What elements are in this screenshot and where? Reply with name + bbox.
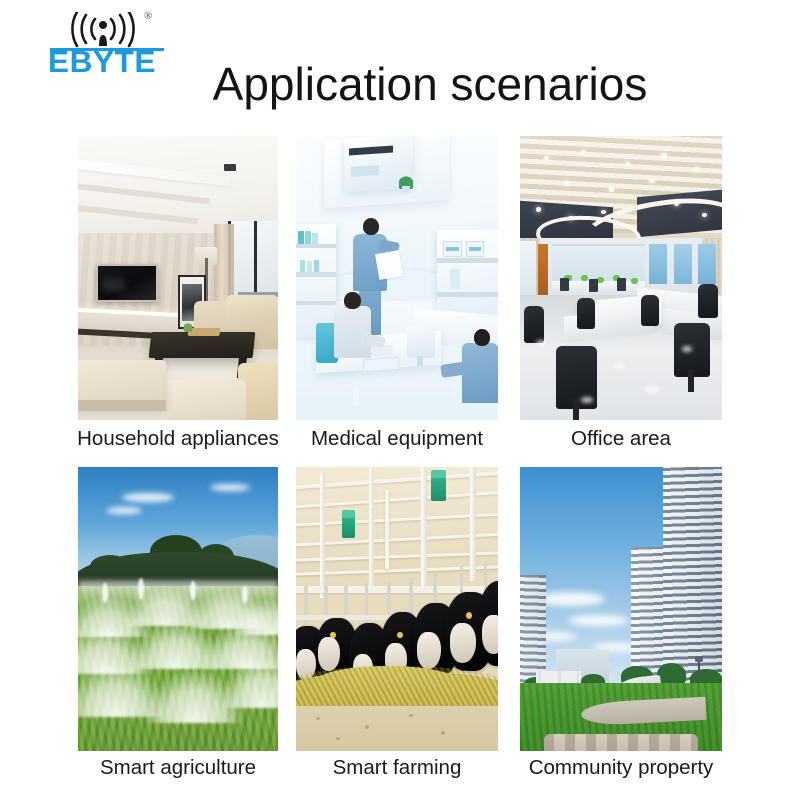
scenario-caption: Smart agriculture: [100, 755, 256, 781]
scenario-caption: Smart farming: [333, 755, 462, 781]
scenario-caption: Household appliances: [77, 426, 279, 452]
application-scenarios-page: ® EBYTE Application scenarios: [0, 0, 800, 800]
scenario-card-office-area[interactable]: Office area: [520, 136, 722, 420]
scenario-grid: Household appliances: [0, 0, 800, 800]
scenario-caption: Office area: [571, 426, 671, 452]
scenario-image-office-area: [520, 136, 722, 420]
scenario-image-smart-farming: [296, 467, 498, 751]
scenario-image-smart-agriculture: [78, 467, 278, 751]
scenario-caption: Medical equipment: [311, 426, 483, 452]
scenario-card-household-appliances[interactable]: Household appliances: [78, 136, 278, 420]
scenario-caption: Community property: [529, 755, 714, 781]
scenario-image-medical-equipment: [296, 136, 498, 420]
scenario-image-community-property: [520, 467, 722, 751]
scenario-card-smart-farming[interactable]: Smart farming: [296, 467, 498, 751]
scenario-card-community-property[interactable]: Community property: [520, 467, 722, 751]
scenario-card-smart-agriculture[interactable]: Smart agriculture: [78, 467, 278, 751]
scenario-image-household-appliances: [78, 136, 278, 420]
scenario-card-medical-equipment[interactable]: Medical equipment: [296, 136, 498, 420]
